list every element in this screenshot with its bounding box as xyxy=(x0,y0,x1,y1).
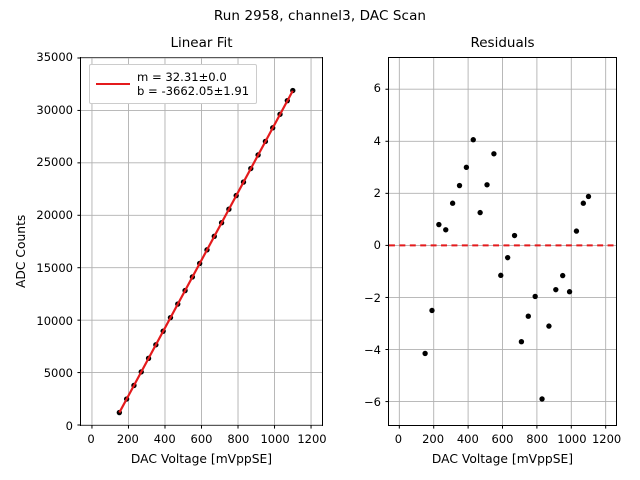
linear-fit-xaxis-label: DAC Voltage [mVppSE] xyxy=(80,452,323,466)
figure-suptitle: Run 2958, channel3, DAC Scan xyxy=(0,8,640,24)
residuals-ytick-label: −4 xyxy=(324,343,381,357)
residuals-ytick-label: 6 xyxy=(324,81,381,95)
residuals-xtick-label: 1200 xyxy=(592,432,621,446)
linear-fit-yaxis-label: ADC Counts xyxy=(14,215,28,288)
linear-fit-ytick-label: 5000 xyxy=(16,366,73,380)
residuals-axes: Residuals xyxy=(388,57,617,426)
linear-fit-xtick-label: 600 xyxy=(191,432,213,446)
linear-fit-plot-area xyxy=(81,58,322,425)
linear-fit-legend: m = 32.31±0.0 b = -3662.05±1.91 xyxy=(89,64,257,104)
linear-fit-xtick-label: 800 xyxy=(227,432,249,446)
residuals-xaxis-label: DAC Voltage [mVppSE] xyxy=(388,452,617,466)
residuals-ytick-label: −2 xyxy=(324,291,381,305)
linear-fit-xtick-label: 1000 xyxy=(260,432,289,446)
linear-fit-title: Linear Fit xyxy=(81,35,322,51)
legend-text-block: m = 32.31±0.0 b = -3662.05±1.91 xyxy=(137,70,249,98)
residuals-xtick-label: 800 xyxy=(526,432,548,446)
residuals-xtick-label: 200 xyxy=(422,432,444,446)
linear-fit-xtick-label: 1200 xyxy=(297,432,326,446)
residuals-xtick-label: 400 xyxy=(457,432,479,446)
linear-fit-ytick-label: 0 xyxy=(16,419,73,433)
linear-fit-ytick-label: 30000 xyxy=(16,103,73,117)
residuals-ytick-label: 4 xyxy=(324,134,381,148)
legend-slope-label: m = 32.31±0.0 xyxy=(137,70,249,84)
residuals-title: Residuals xyxy=(389,35,616,51)
residuals-plot-area xyxy=(389,58,616,425)
residuals-xtick-label: 0 xyxy=(395,432,402,446)
linear-fit-xtick-label: 0 xyxy=(87,432,94,446)
residuals-ytick-label: 0 xyxy=(324,238,381,252)
linear-fit-xtick-label: 200 xyxy=(117,432,139,446)
linear-fit-xtick-label: 400 xyxy=(154,432,176,446)
legend-line-swatch xyxy=(96,83,130,86)
residuals-ytick-label: 2 xyxy=(324,186,381,200)
linear-fit-ytick-label: 25000 xyxy=(16,155,73,169)
figure-canvas: Run 2958, channel3, DAC Scan Linear Fit … xyxy=(0,0,640,480)
residuals-ytick-label: −6 xyxy=(324,395,381,409)
linear-fit-ytick-label: 10000 xyxy=(16,314,73,328)
linear-fit-ytick-label: 35000 xyxy=(16,50,73,64)
linear-fit-axes: Linear Fit xyxy=(80,57,323,426)
legend-intercept-label: b = -3662.05±1.91 xyxy=(137,84,249,98)
residuals-xtick-label: 1000 xyxy=(557,432,586,446)
residuals-xtick-label: 600 xyxy=(492,432,514,446)
